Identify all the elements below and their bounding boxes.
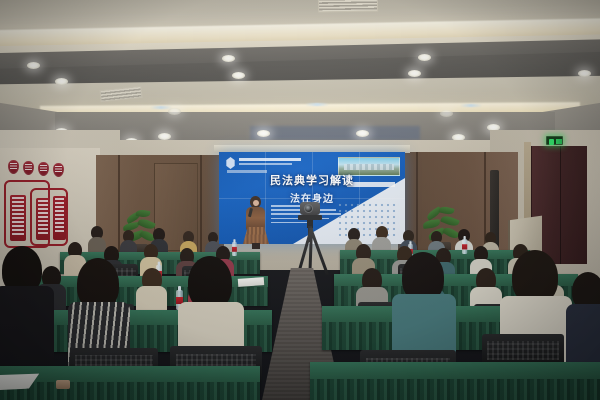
honor-board xyxy=(36,198,50,240)
downlight-icon xyxy=(55,78,68,85)
presenter-legs xyxy=(252,243,260,249)
downlight-icon xyxy=(418,54,431,61)
desk-skirt xyxy=(310,379,600,400)
honor-board xyxy=(53,196,66,240)
panel-seam xyxy=(200,155,202,260)
slide-logo xyxy=(225,157,301,169)
mobile-phone[interactable] xyxy=(56,380,70,389)
emblem-icon xyxy=(225,157,236,169)
ac-vent-center xyxy=(318,0,378,13)
strip-light xyxy=(150,106,172,109)
strip-light xyxy=(305,103,329,106)
downlight-icon xyxy=(222,55,235,62)
downlight-icon xyxy=(232,72,245,79)
conference-desk xyxy=(310,362,600,400)
ceiling-blue-reflection xyxy=(250,126,420,140)
downlight-icon xyxy=(356,130,369,137)
downlight-icon xyxy=(408,70,421,77)
camera-tripod xyxy=(292,202,328,278)
audience-member xyxy=(0,246,54,356)
tripod-leg xyxy=(308,228,312,274)
camera-lens-icon xyxy=(304,204,313,213)
honor-board xyxy=(10,195,26,241)
slide-accent-bar-left xyxy=(227,170,267,173)
downlight-icon xyxy=(257,130,270,137)
conference-room-photo: 民法典学习解读 法在身边 xyxy=(0,0,600,400)
downlight-icon xyxy=(440,110,453,117)
audience-member xyxy=(566,272,600,368)
desk-top xyxy=(310,362,600,379)
downlight-icon xyxy=(578,70,591,77)
desk-skirt xyxy=(0,382,260,400)
slide-logo-text xyxy=(239,158,301,167)
audience-member xyxy=(392,252,456,356)
downlight-icon xyxy=(27,62,40,69)
downlight-icon xyxy=(168,108,181,115)
slide-photo-thumbnail xyxy=(338,157,400,176)
presenter-face xyxy=(253,200,259,206)
downlight-icon xyxy=(158,133,171,140)
presenter xyxy=(243,196,269,248)
audience-member xyxy=(136,268,167,316)
water-bottle xyxy=(462,239,467,254)
conference-desk xyxy=(0,366,260,400)
exit-sign-icon xyxy=(546,136,563,145)
strip-light xyxy=(460,104,482,107)
